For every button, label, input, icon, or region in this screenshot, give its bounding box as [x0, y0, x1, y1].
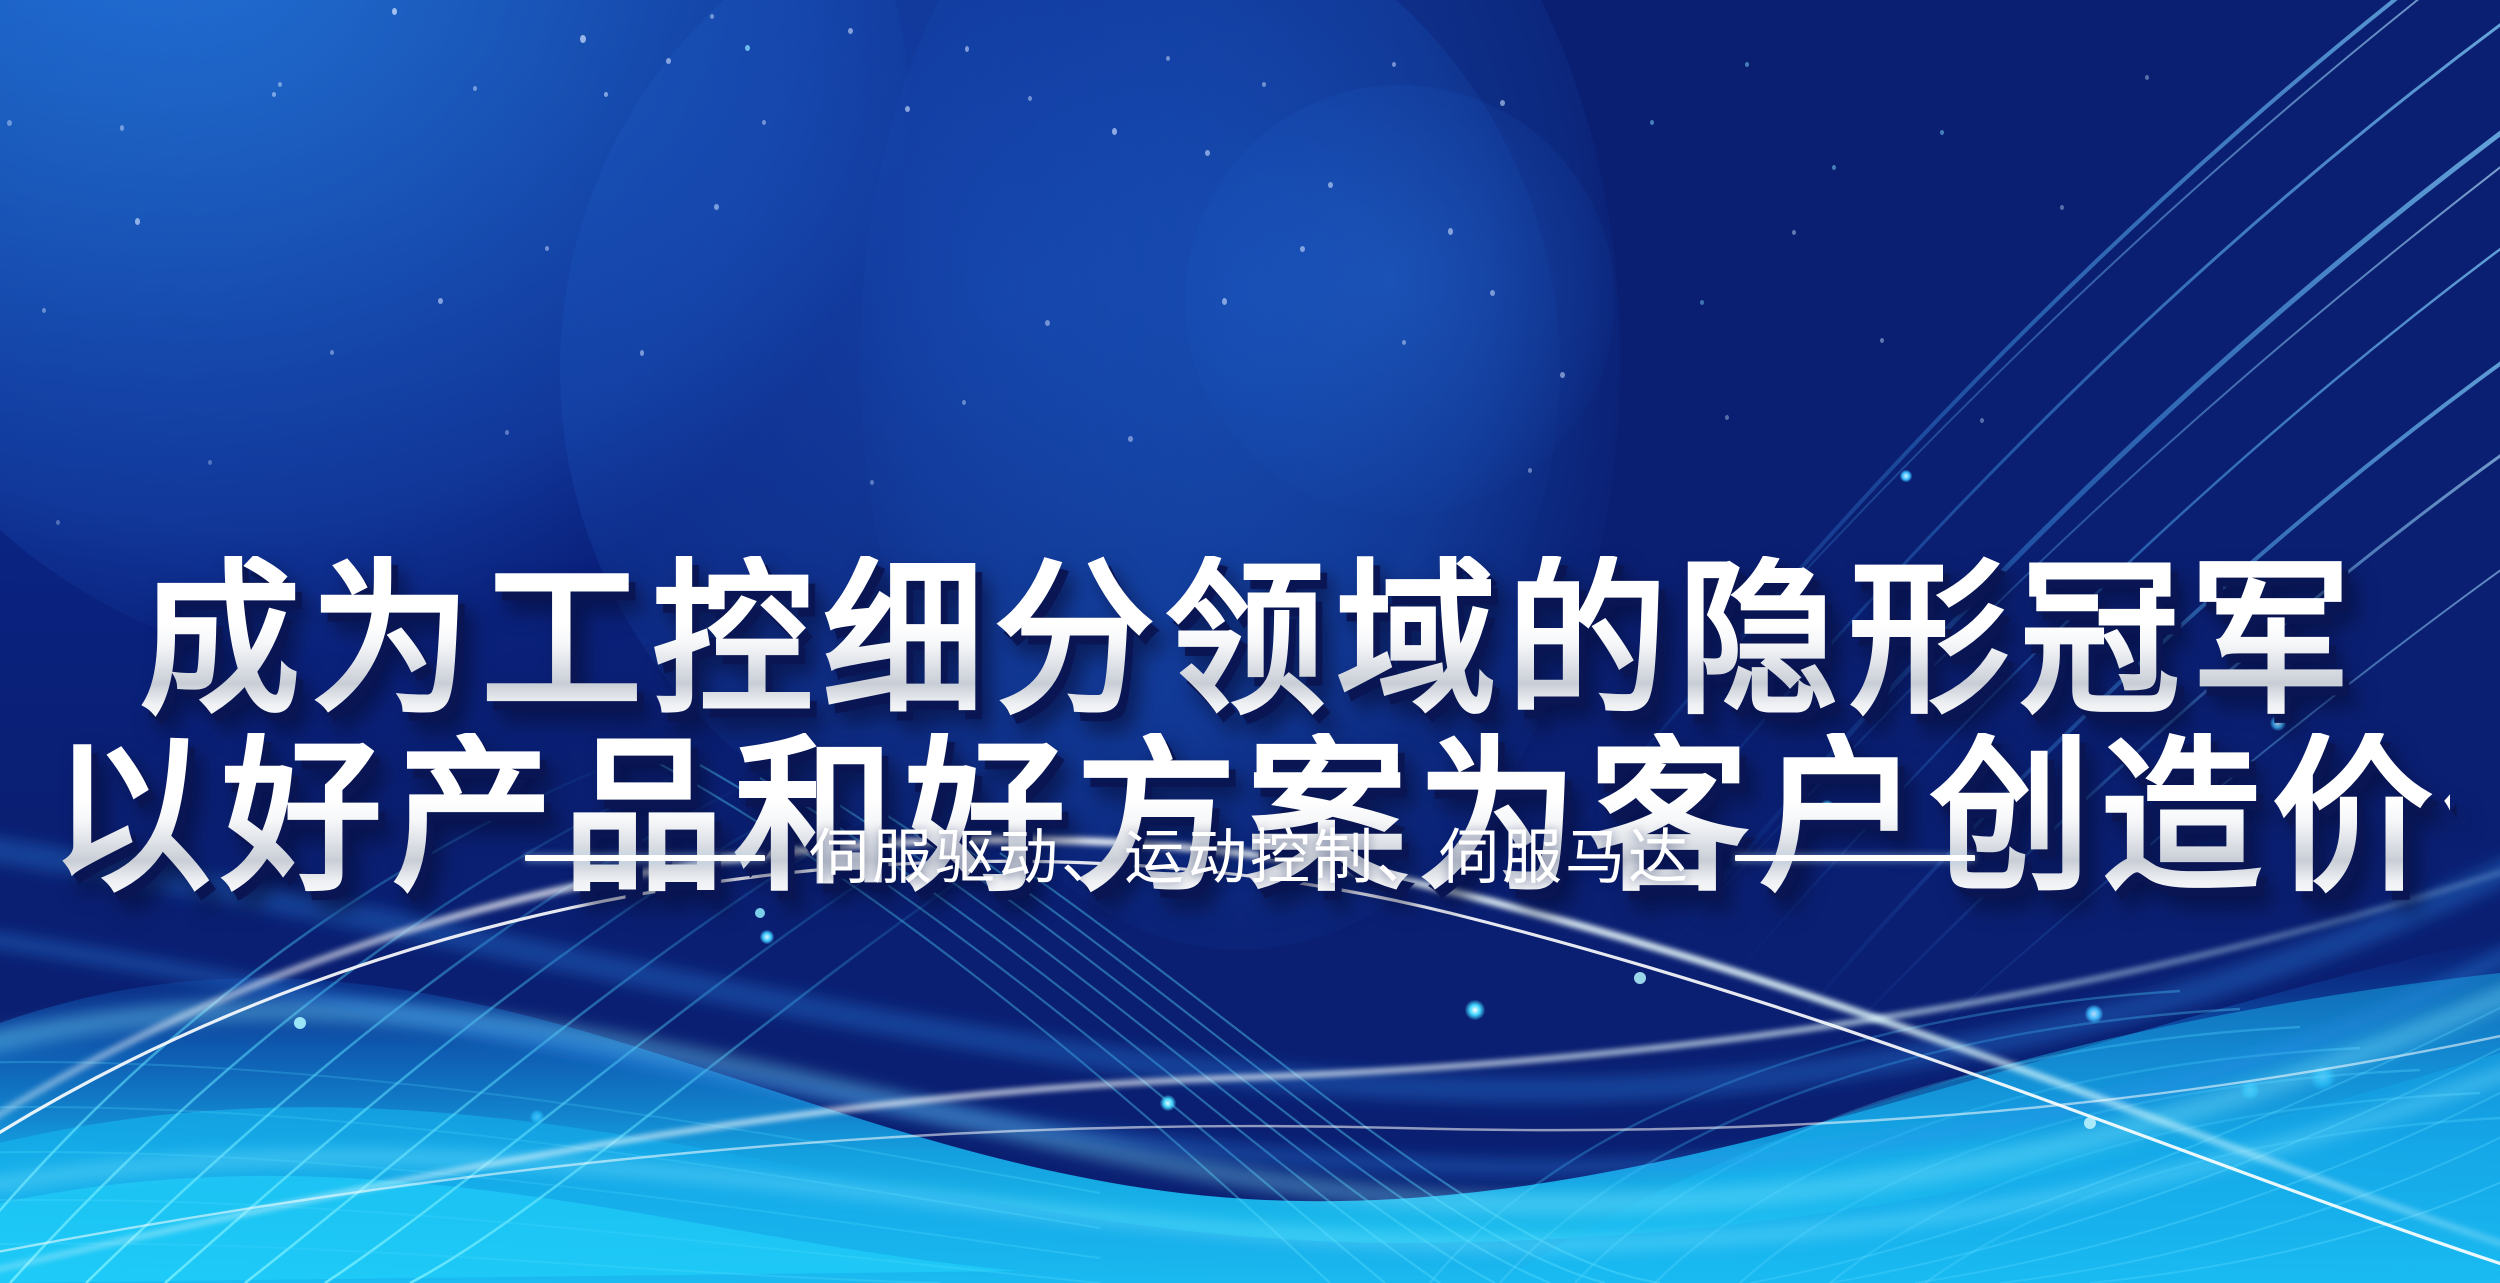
right-rule-decoration — [1735, 855, 1975, 861]
headline-line-1: 成为工控细分领域的隐形冠军 — [50, 556, 2450, 724]
banner-content: 成为工控细分领域的隐形冠军 以好产品和好方案为客户创造价值 伺服驱动、运动控制、… — [0, 0, 2500, 1283]
hero-banner: 成为工控细分领域的隐形冠军 以好产品和好方案为客户创造价值 伺服驱动、运动控制、… — [0, 0, 2500, 1283]
left-rule-decoration — [525, 855, 765, 861]
subtitle-row: 伺服驱动、运动控制、伺服马达 — [0, 826, 2500, 891]
subtitle-text: 伺服驱动、运动控制、伺服马达 — [809, 826, 1691, 891]
